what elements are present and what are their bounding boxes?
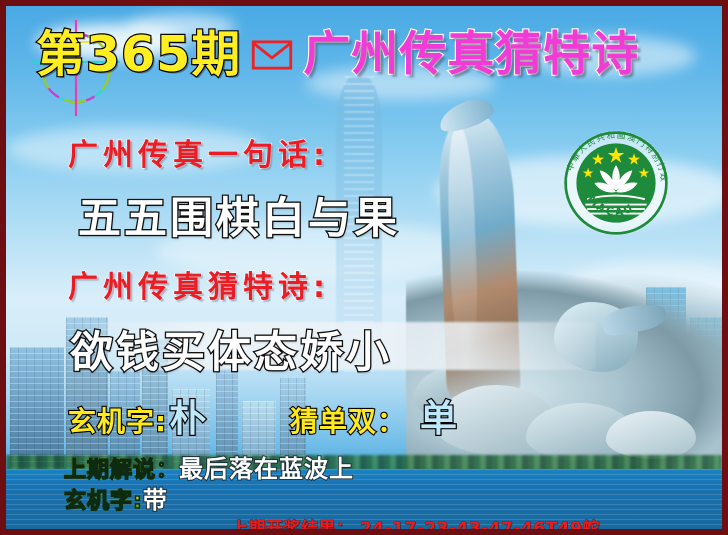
mystic-character-row: 玄机字: 朴 bbox=[68, 388, 206, 442]
fax-poem-value: 欲钱买体态娇小 bbox=[70, 318, 392, 380]
odd-even-row: 猜单双： 单 bbox=[290, 388, 457, 442]
fax-phrase-label: 广州传真一句话: bbox=[68, 130, 330, 174]
fax-phrase-value: 五五围棋白与果 bbox=[78, 184, 400, 246]
previous-explanation-value: 最后落在蓝波上 bbox=[179, 449, 354, 484]
odd-even-value: 单 bbox=[420, 388, 457, 442]
previous-mystic-character-row: 玄机字: 带 bbox=[64, 480, 168, 515]
previous-explanation-row: 上期解说： 最后落在蓝波上 bbox=[64, 449, 354, 484]
previous-mystic-character-value: 带 bbox=[143, 480, 168, 515]
envelope-icon bbox=[251, 40, 293, 70]
lottery-poster: 第365期 广州传真猜特诗 中華人民共和國澳門特別行政區 bbox=[0, 0, 728, 535]
macau-sar-emblem: 中華人民共和國澳門特別行政區 bbox=[562, 129, 670, 237]
previous-result-label: 上期开奖结果： bbox=[231, 519, 354, 535]
poster-content: 第365期 广州传真猜特诗 中華人民共和國澳門特別行政區 bbox=[6, 6, 722, 529]
mystic-character-label: 玄机字: bbox=[68, 400, 167, 440]
poster-header: 第365期 广州传真猜特诗 bbox=[36, 30, 639, 79]
fax-poem-label: 广州传真猜特诗: bbox=[68, 262, 330, 306]
previous-mystic-character-label: 玄机字: bbox=[64, 483, 143, 515]
issue-number-label: 第365期 bbox=[36, 30, 241, 79]
mystic-character-value: 朴 bbox=[169, 388, 206, 442]
odd-even-label: 猜单双： bbox=[290, 400, 406, 440]
previous-result-numbers: 24-17-23-43-47-46T49蛇 bbox=[360, 519, 600, 535]
previous-result-row: 上期开奖结果： 24-17-23-43-47-46T49蛇 bbox=[231, 514, 600, 535]
page-title: 广州传真猜特诗 bbox=[303, 31, 639, 78]
